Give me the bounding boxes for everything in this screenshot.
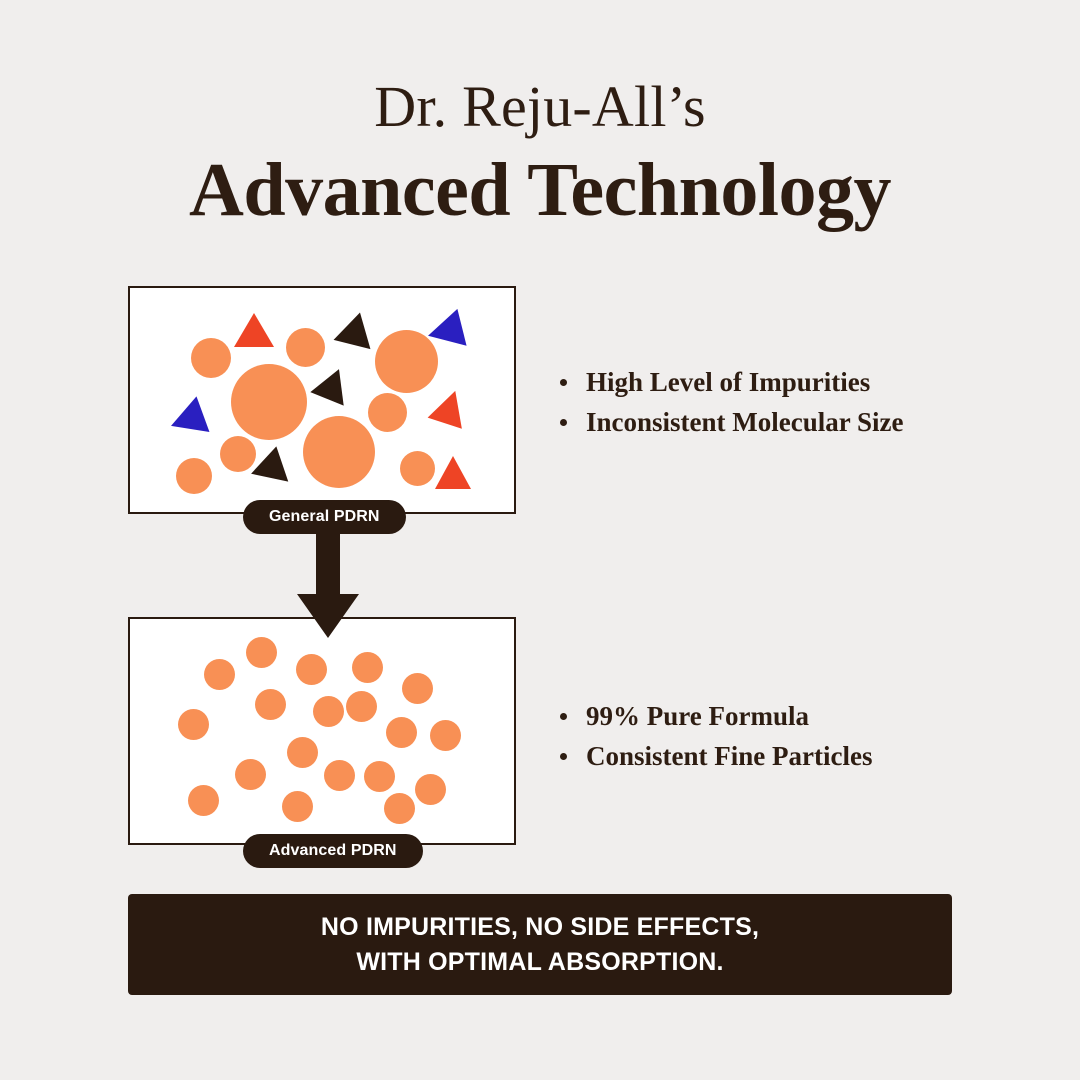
summary-banner: NO IMPURITIES, NO SIDE EFFECTS, WITH OPT… (128, 894, 952, 995)
particle-circle (204, 659, 235, 690)
particle-circle (415, 774, 446, 805)
particle-circle (282, 791, 313, 822)
impurity-triangle (428, 385, 473, 428)
particle-circle (346, 691, 377, 722)
impurity-triangle (435, 456, 471, 489)
particle-circle (235, 759, 266, 790)
particle-circle (246, 637, 277, 668)
title-line-1: Dr. Reju-All’s (0, 78, 1080, 136)
bullets-general-pdrn: High Level of Impurities Inconsistent Mo… (556, 362, 903, 442)
particle-circle (386, 717, 417, 748)
molecule-circle (191, 338, 231, 378)
particle-circle (384, 793, 415, 824)
panel-general-pdrn (128, 286, 516, 514)
list-item: Consistent Fine Particles (556, 736, 872, 776)
impurity-triangle (165, 396, 210, 443)
bullets-advanced-pdrn: 99% Pure Formula Consistent Fine Particl… (556, 696, 872, 776)
bullet-text: High Level of Impurities (586, 367, 870, 397)
bullet-dot-icon (560, 713, 567, 720)
particle-circle (188, 785, 219, 816)
particle-circle (430, 720, 461, 751)
molecule-circle (303, 416, 375, 488)
bullet-dot-icon (560, 379, 567, 386)
molecule-circle (368, 393, 407, 432)
title-line-2: Advanced Technology (0, 148, 1080, 233)
impurity-triangle (310, 362, 355, 405)
molecule-circle (231, 364, 307, 440)
down-arrow-icon (297, 528, 359, 638)
molecule-circle (400, 451, 435, 486)
bullet-text: 99% Pure Formula (586, 701, 809, 731)
particle-circle (313, 696, 344, 727)
list-item: 99% Pure Formula (556, 696, 872, 736)
list-item: Inconsistent Molecular Size (556, 402, 903, 442)
particle-circle (364, 761, 395, 792)
impurity-triangle (234, 313, 274, 347)
particle-circle (255, 689, 286, 720)
label-advanced-pdrn: Advanced PDRN (243, 834, 423, 868)
label-general-pdrn: General PDRN (243, 500, 406, 534)
particle-circle (287, 737, 318, 768)
bullet-dot-icon (560, 419, 567, 426)
molecule-circle (176, 458, 212, 494)
particle-circle (352, 652, 383, 683)
bullet-text: Consistent Fine Particles (586, 741, 872, 771)
bullet-text: Inconsistent Molecular Size (586, 407, 903, 437)
page-title: Dr. Reju-All’s Advanced Technology (0, 78, 1080, 233)
bullet-dot-icon (560, 753, 567, 760)
molecule-circle (286, 328, 325, 367)
infographic-canvas: Dr. Reju-All’s Advanced Technology Gener… (0, 0, 1080, 1080)
banner-line-1: NO IMPURITIES, NO SIDE EFFECTS, (321, 913, 759, 942)
particle-circle (178, 709, 209, 740)
list-item: High Level of Impurities (556, 362, 903, 402)
molecule-circle (220, 436, 256, 472)
impurity-triangle (334, 308, 379, 349)
banner-line-2: WITH OPTIMAL ABSORPTION. (356, 948, 723, 977)
panel-advanced-pdrn (128, 617, 516, 845)
particle-circle (296, 654, 327, 685)
particle-circle (402, 673, 433, 704)
impurity-triangle (251, 442, 295, 481)
particle-circle (324, 760, 355, 791)
